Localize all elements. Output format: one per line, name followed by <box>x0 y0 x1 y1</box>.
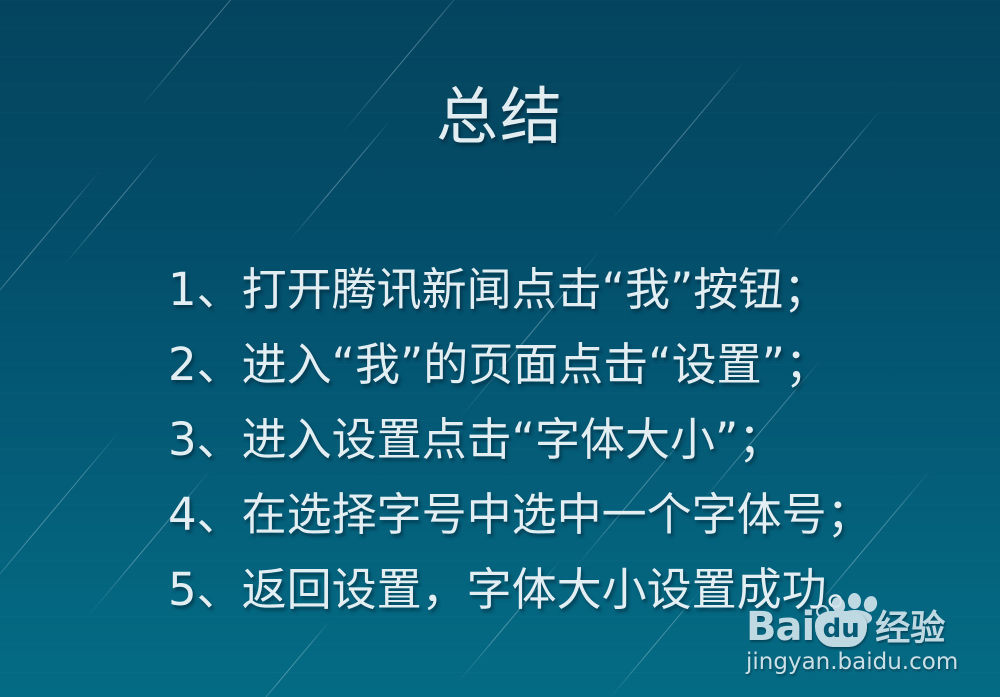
list-item: 1、打开腾讯新闻点击“我”按钮； <box>168 252 958 327</box>
list-item: 3、进入设置点击“字体大小”； <box>168 402 958 477</box>
presentation-slide: 总结 1、打开腾讯新闻点击“我”按钮； 2、进入“我”的页面点击“设置”； 3、… <box>0 0 1000 697</box>
list-item: 2、进入“我”的页面点击“设置”； <box>168 327 958 402</box>
baidu-brand-badge: du <box>815 611 867 647</box>
baidu-logo: Bai du 经验 <box>746 603 945 647</box>
page-title: 总结 <box>0 84 1000 149</box>
list-item: 4、在选择字号中选中一个字体号； <box>168 477 958 552</box>
baidu-jingyan-watermark: Bai du 经验 jingyan.baidu.com <box>734 595 986 685</box>
watermark-url: jingyan.baidu.com <box>746 649 958 675</box>
summary-step-list: 1、打开腾讯新闻点击“我”按钮； 2、进入“我”的页面点击“设置”； 3、进入设… <box>168 252 958 627</box>
jingyan-brand-cn: 经验 <box>875 611 945 647</box>
baidu-brand-latin: Bai <box>746 607 814 647</box>
